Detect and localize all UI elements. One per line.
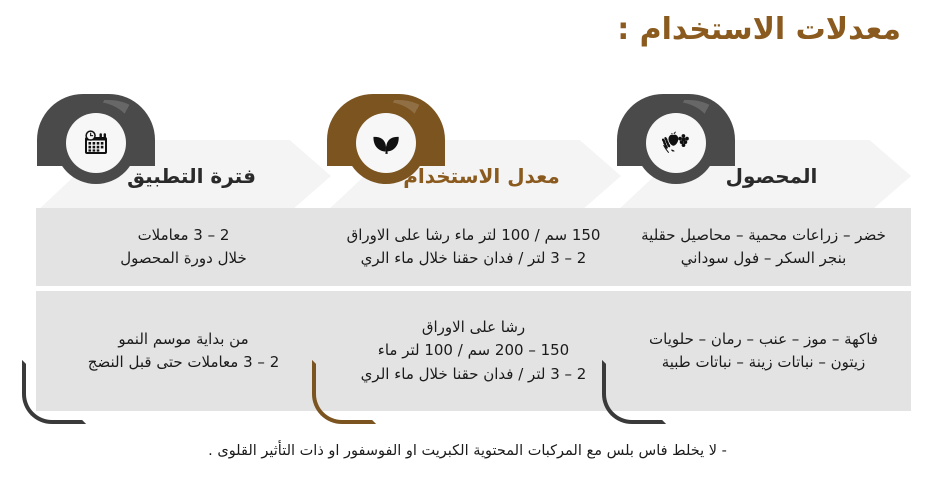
cell-application-period-row1: 2 – 3 معاملات خلال دورة المحصول [36,208,331,286]
corner-curve-decoration [312,360,376,424]
cell-line: 2 – 3 لتر / فدان حقنا خلال ماء الري [361,363,587,386]
badge-application-period [37,88,155,174]
cell-text: خضر – زراعات محمية – محاصيل حقلية بنجر ا… [641,224,886,271]
fruits-wheat-icon [658,127,694,159]
two-leaves-icon [369,127,403,159]
cell-line: 2 – 3 معاملات [120,224,246,247]
badge-usage-rate [327,88,445,174]
column-usage-rate: معدل الاستخدام [326,88,621,418]
cell-line: 2 – 3 لتر / فدان حقنا خلال ماء الري [347,247,601,270]
badge-inner [66,113,126,173]
cell-line: رشا على الاوراق [361,316,587,339]
badge-circle [635,102,717,184]
cell-usage-rate-row1: 150 سم / 100 لتر ماء رشا على الاوراق 2 –… [326,208,621,286]
cell-text: فاكهة – موز – عنب – رمان – حلويات زيتون … [649,328,878,375]
cell-line: 2 – 3 معاملات حتى قبل النضج [88,351,279,374]
column-application-period: فترة التطبيق [36,88,331,418]
cell-text: 2 – 3 معاملات خلال دورة المحصول [120,224,246,271]
badge-inner [356,113,416,173]
cell-line: بنجر السكر – فول سوداني [641,247,886,270]
cell-line: خضر – زراعات محمية – محاصيل حقلية [641,224,886,247]
badge-crop [617,88,735,174]
cell-line: 150 سم / 100 لتر ماء رشا على الاوراق [347,224,601,247]
column-crop: المحصول [616,88,911,418]
badge-circle [55,102,137,184]
cell-crop-row1: خضر – زراعات محمية – محاصيل حقلية بنجر ا… [616,208,911,286]
cell-line: 150 – 200 سم / 100 لتر ماء [361,339,587,362]
corner-curve-decoration [602,360,666,424]
cell-line: من بداية موسم النمو [88,328,279,351]
footnote: - لا يخلط فاس بلس مع المركبات المحتوية ا… [0,443,935,459]
cell-text: 150 سم / 100 لتر ماء رشا على الاوراق 2 –… [347,224,601,271]
page-title: معدلات الاستخدام : [617,12,901,47]
cell-line: خلال دورة المحصول [120,247,246,270]
badge-circle [345,102,427,184]
usage-rates-board: فترة التطبيق [0,88,935,418]
cell-line: زيتون – نباتات زينة – نباتات طبية [649,351,878,374]
corner-curve-decoration [22,360,86,424]
cell-text: من بداية موسم النمو 2 – 3 معاملات حتى قب… [88,328,279,375]
cell-line: فاكهة – موز – عنب – رمان – حلويات [649,328,878,351]
badge-inner [646,113,706,173]
cell-text: رشا على الاوراق 150 – 200 سم / 100 لتر م… [361,316,587,386]
calendar-clock-icon [79,126,113,160]
